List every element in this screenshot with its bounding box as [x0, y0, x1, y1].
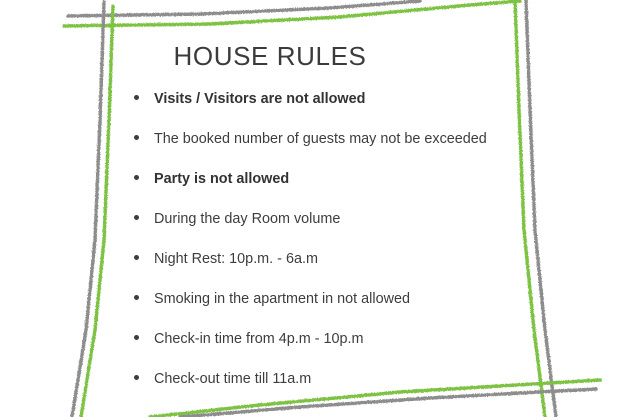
list-item: Party is not allowed [132, 168, 602, 208]
list-item: Check-in time from 4p.m - 10p.m [132, 328, 602, 368]
list-item: The booked number of guests may not be e… [132, 128, 602, 168]
rule-text: Party is not allowed [154, 168, 289, 190]
bullet-dot-icon [134, 135, 139, 140]
bullet-dot-icon [134, 175, 139, 180]
list-item: Smoking in the apartment in not allowed [132, 288, 602, 328]
list-item: Night Rest: 10p.m. - 6a.m [132, 248, 602, 288]
list-item: Visits / Visitors are not allowed [132, 88, 602, 128]
rule-text: Check-in time from 4p.m - 10p.m [154, 328, 364, 350]
house-rules-poster: HOUSE RULES Visits / Visitors are not al… [0, 0, 640, 417]
poster-content: HOUSE RULES Visits / Visitors are not al… [0, 0, 640, 417]
list-item: During the day Room volume [132, 208, 602, 248]
list-item: Check-out time till 11a.m [132, 368, 602, 408]
page-title: HOUSE RULES [0, 41, 540, 72]
rule-text: Check-out time till 11a.m [154, 368, 311, 390]
rules-list: Visits / Visitors are not allowed The bo… [132, 88, 602, 408]
rule-text: Night Rest: 10p.m. - 6a.m [154, 248, 318, 270]
bullet-dot-icon [134, 335, 139, 340]
bullet-dot-icon [134, 95, 139, 100]
bullet-dot-icon [134, 255, 139, 260]
bullet-dot-icon [134, 215, 139, 220]
bullet-dot-icon [134, 375, 139, 380]
rule-text: Visits / Visitors are not allowed [154, 88, 365, 110]
rule-text: During the day Room volume [154, 208, 340, 230]
rule-text: Smoking in the apartment in not allowed [154, 288, 410, 310]
rule-text: The booked number of guests may not be e… [154, 128, 487, 150]
bullet-dot-icon [134, 295, 139, 300]
